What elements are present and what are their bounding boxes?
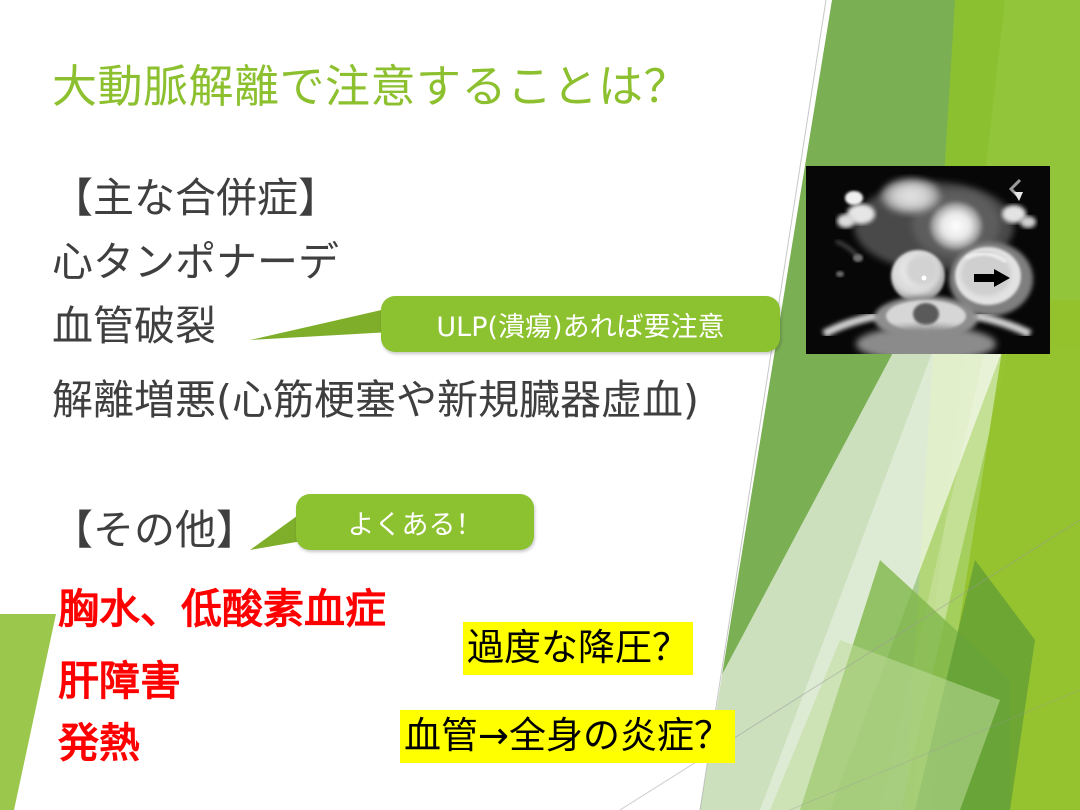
- ct-scan-image: [806, 166, 1050, 354]
- deco-band-mid-green-top: [905, 0, 1080, 810]
- main-section-item-2: 解離増悪(心筋梗塞や新規臓器虚血): [52, 380, 699, 421]
- main-section-heading: 【主な合併症】: [52, 178, 339, 219]
- deco-block-green-deep: [915, 560, 1035, 810]
- other-section-heading: 【その他】: [52, 510, 257, 551]
- deco-sheet-pale-2: [760, 345, 1010, 810]
- other-section-item-1: 肝障害: [58, 661, 181, 702]
- callout-yoku: よくある！: [296, 494, 534, 550]
- deco-wedge-left-green: [0, 614, 56, 810]
- callout-ulp-tail: [250, 300, 390, 352]
- deco-hairline-3: [790, 690, 1080, 810]
- callout-ulp: ULP(潰瘍)あれば要注意: [381, 296, 780, 352]
- ct-scan-graphic: [806, 166, 1050, 354]
- main-section-item-0: 心タンポナーデ: [52, 242, 339, 283]
- deco-sheet-pale-3: [880, 350, 1080, 810]
- deco-block-bright-green: [930, 300, 1080, 810]
- deco-block-green-pale-bottom: [770, 640, 1000, 810]
- main-section-item-1: 血管破裂: [52, 306, 216, 347]
- deco-hairline-1: [700, 0, 826, 810]
- deco-wedge-left: [0, 612, 58, 810]
- deco-block-green-lower: [800, 560, 1010, 810]
- deco-band-dark-green-top: [700, 0, 1005, 810]
- page-title: 大動脈解離で注意することは？: [52, 62, 689, 112]
- highlight-note-0: 過度な降圧？: [463, 622, 693, 675]
- slide-canvas: 大動脈解離で注意することは？ 【主な合併症】 心タンポナーデ 血管破裂 解離増悪…: [0, 0, 1080, 810]
- other-section-item-0: 胸水、低酸素血症: [58, 589, 386, 630]
- other-section-item-2: 発熱: [58, 723, 140, 764]
- highlight-note-1: 血管→全身の炎症？: [400, 710, 735, 763]
